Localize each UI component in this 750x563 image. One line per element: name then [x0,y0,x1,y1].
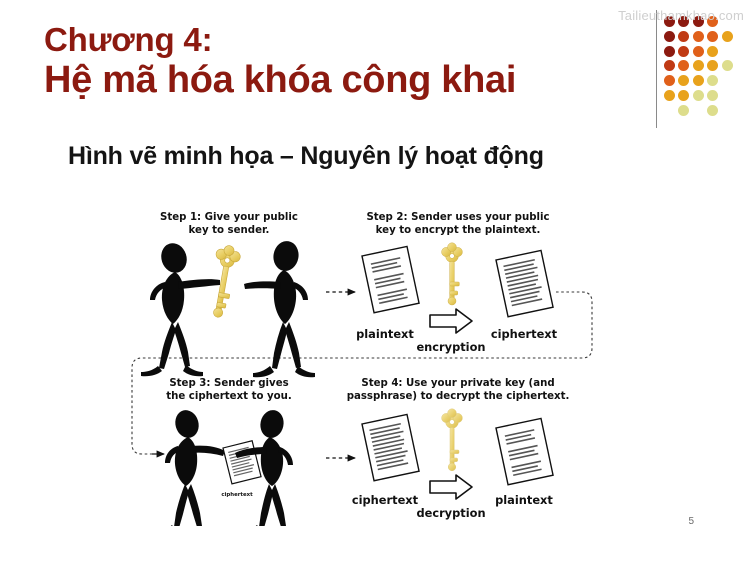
deco-dot [722,31,733,42]
deco-dot [664,46,675,57]
step1-group: Step 1: Give your public key to sender. [141,212,355,377]
step4-group: Step 4: Use your private key (and passph… [347,378,570,520]
deco-dot [707,31,718,42]
label-ciphertext-step4: ciphertext [352,493,419,507]
deco-dot [722,60,733,71]
vertical-divider-line [656,10,657,128]
gold-key-step4 [442,409,463,471]
page-number: 5 [688,516,694,527]
deco-dot [693,90,704,101]
deco-dot [678,90,689,101]
deco-dot [707,60,718,71]
deco-dot [664,75,675,86]
label-ciphertext-step2: ciphertext [491,327,558,341]
deco-dot [664,31,675,42]
sender-stick-figure-step3 [156,407,225,526]
label-plaintext-step2: plaintext [356,327,414,341]
gold-key-step2 [442,243,463,305]
step3-caption-line2: the ciphertext to you. [166,391,292,402]
deco-dot [693,60,704,71]
deco-dot [664,60,675,71]
diagram-container: Step 1: Give your public key to sender. [112,196,612,526]
chapter-label: Chương 4: [44,22,634,59]
deco-dot [707,90,718,101]
label-plaintext-step4: plaintext [495,493,553,507]
step4-caption-line2: passphrase) to decrypt the ciphertext. [347,391,570,402]
step3-caption-line1: Step 3: Sender gives [169,378,288,389]
deco-dot [678,46,689,57]
slide-canvas: Tailieuthamkhao.com Chương 4: Hệ mã hóa … [0,0,750,563]
ciphertext-document-step2 [496,250,553,316]
deco-dot [693,46,704,57]
step1-caption-line2: key to sender. [189,225,270,236]
title-block: Chương 4: Hệ mã hóa khóa công khai [44,22,634,103]
public-key-diagram: Step 1: Give your public key to sender. [112,196,612,526]
sender-stick-figure [244,239,315,377]
step2-group: Step 2: Sender uses your public key to e… [356,212,558,354]
decryption-block-arrow [430,475,472,499]
label-ciphertext-step3: ciphertext [221,492,253,498]
deco-dot [678,31,689,42]
plaintext-document-step4 [496,418,553,484]
subtitle: Hình vẽ minh họa – Nguyên lý hoạt động [68,142,544,171]
receiver-stick-figure [141,240,220,376]
deco-dot [678,60,689,71]
deco-dot [664,90,675,101]
deco-dot [693,31,704,42]
deco-dot [707,105,718,116]
page-title: Hệ mã hóa khóa công khai [44,59,634,103]
step4-caption-line1: Step 4: Use your private key (and [361,378,554,389]
deco-dot [707,75,718,86]
encryption-block-arrow [430,309,472,333]
deco-dot [678,75,689,86]
deco-dot [707,46,718,57]
deco-dot [693,75,704,86]
ciphertext-document-step3 [223,441,261,484]
plaintext-document-step2 [362,246,419,312]
ciphertext-document-step4 [362,414,419,480]
label-decryption: decryption [416,506,485,520]
step3-group: Step 3: Sender gives the ciphertext to y… [156,378,355,526]
step2-caption-line2: key to encrypt the plaintext. [376,225,541,236]
step2-caption-line1: Step 2: Sender uses your public [366,212,549,223]
label-encryption: encryption [416,340,485,354]
step1-caption-line1: Step 1: Give your public [160,212,298,223]
watermark-text: Tailieuthamkhao.com [618,8,744,23]
deco-dot [678,105,689,116]
